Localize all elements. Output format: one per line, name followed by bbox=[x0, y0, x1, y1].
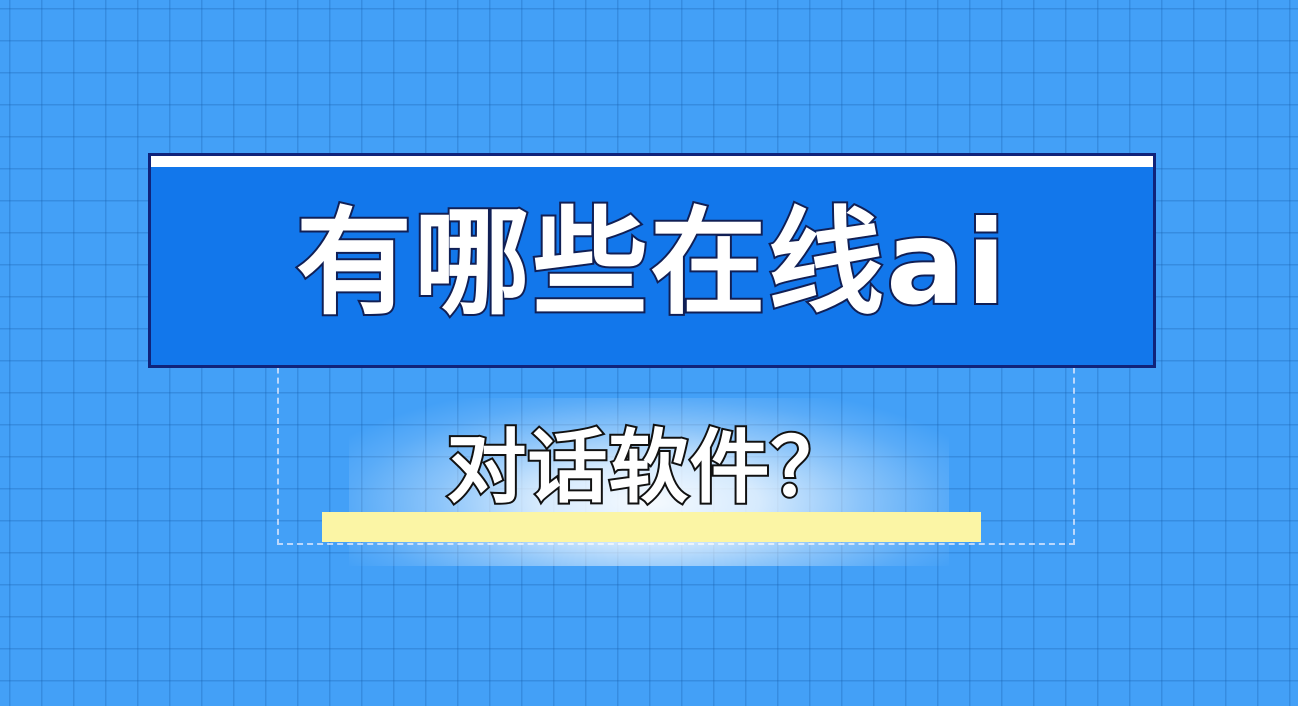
headline-text: 有哪些在线ai bbox=[296, 206, 1008, 322]
subline-block: 对话软件？ bbox=[0, 398, 1298, 578]
title-card-canvas: 有哪些在线ai 对话软件？ bbox=[0, 0, 1298, 706]
banner-top-white-strip bbox=[151, 156, 1153, 167]
headline-banner: 有哪些在线ai bbox=[148, 153, 1156, 368]
subline-text: 对话软件？ bbox=[0, 428, 1298, 508]
subline-highlight-bar bbox=[322, 512, 981, 542]
